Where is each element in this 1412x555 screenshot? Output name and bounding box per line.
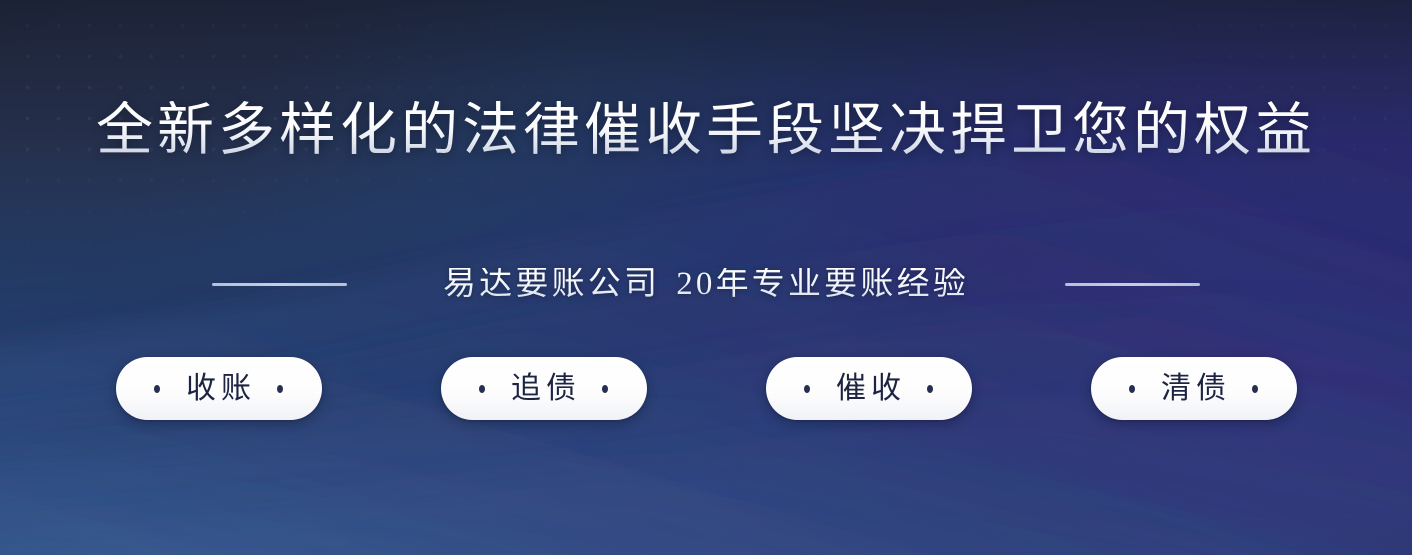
service-pill-zhuizhai[interactable]: 追债 (441, 357, 647, 420)
service-pill-label: 追债 (506, 374, 581, 404)
left-divider-rule (212, 283, 347, 286)
banner-content: 全新多样化的法律催收手段坚决捍卫您的权益 易达要账公司20年专业要账经验 收账 … (0, 0, 1412, 555)
right-divider-rule (1065, 283, 1200, 286)
service-pill-label: 催收 (831, 374, 906, 404)
bullet-dot-icon (154, 385, 160, 393)
service-pill-label: 收账 (181, 374, 256, 404)
bullet-dot-icon (602, 385, 608, 393)
service-pill-qingzhai[interactable]: 清债 (1091, 357, 1297, 420)
banner-headline: 全新多样化的法律催收手段坚决捍卫您的权益 (96, 101, 1316, 160)
bullet-dot-icon (1129, 385, 1135, 393)
bullet-dot-icon (277, 385, 283, 393)
bullet-dot-icon (927, 385, 933, 393)
bullet-dot-icon (479, 385, 485, 393)
subtitle-company: 易达要账公司 (443, 266, 660, 302)
bullet-dot-icon (804, 385, 810, 393)
service-pill-group: 收账 追债 催收 清债 (116, 357, 1297, 420)
bullet-dot-icon (1252, 385, 1258, 393)
banner-subtitle-row: 易达要账公司20年专业要账经验 (0, 268, 1412, 301)
banner-subtitle: 易达要账公司20年专业要账经验 (443, 268, 969, 301)
service-pill-cuishou[interactable]: 催收 (766, 357, 972, 420)
service-pill-shouzhang[interactable]: 收账 (116, 357, 322, 420)
service-pill-label: 清债 (1156, 374, 1231, 404)
promotional-banner: 全新多样化的法律催收手段坚决捍卫您的权益 易达要账公司20年专业要账经验 收账 … (0, 0, 1412, 555)
subtitle-experience: 20年专业要账经验 (676, 266, 969, 302)
